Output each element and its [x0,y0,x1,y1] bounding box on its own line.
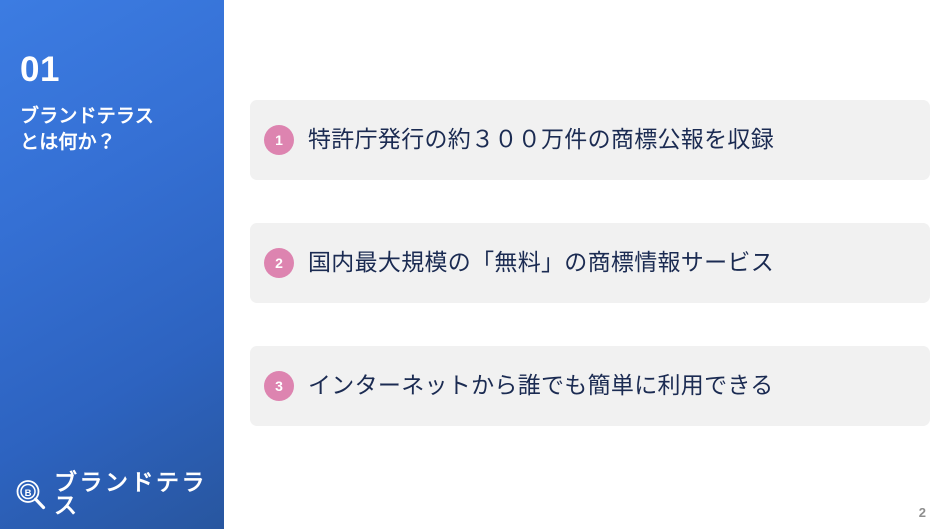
card-text: 国内最大規模の「無料」の商標情報サービス [308,249,774,277]
page-number: 2 [919,506,926,519]
logo: B ブランドテラス [12,471,224,517]
svg-text:B: B [25,488,32,499]
sidebar: 01 ブランドテラス とは何か？ B ブランドテラス [0,0,224,529]
card-number-badge: 1 [264,125,294,155]
feature-card: 1 特許庁発行の約３００万件の商標公報を収録 [250,100,930,180]
section-number: 01 [20,52,60,87]
magnifier-b-icon: B [12,476,48,512]
main-content: 1 特許庁発行の約３００万件の商標公報を収録 2 国内最大規模の「無料」の商標情… [250,0,930,529]
logo-text: ブランドテラス [54,471,224,517]
card-text: インターネットから誰でも簡単に利用できる [308,372,774,400]
card-number-badge: 3 [264,371,294,401]
slide: 01 ブランドテラス とは何か？ B ブランドテラス 1 特許庁発行の約３００万… [0,0,940,529]
page-title: ブランドテラス とは何か？ [20,104,154,156]
feature-card-list: 1 特許庁発行の約３００万件の商標公報を収録 2 国内最大規模の「無料」の商標情… [250,100,930,426]
card-text: 特許庁発行の約３００万件の商標公報を収録 [308,126,774,154]
feature-card: 3 インターネットから誰でも簡単に利用できる [250,346,930,426]
card-number-badge: 2 [264,248,294,278]
feature-card: 2 国内最大規模の「無料」の商標情報サービス [250,223,930,303]
